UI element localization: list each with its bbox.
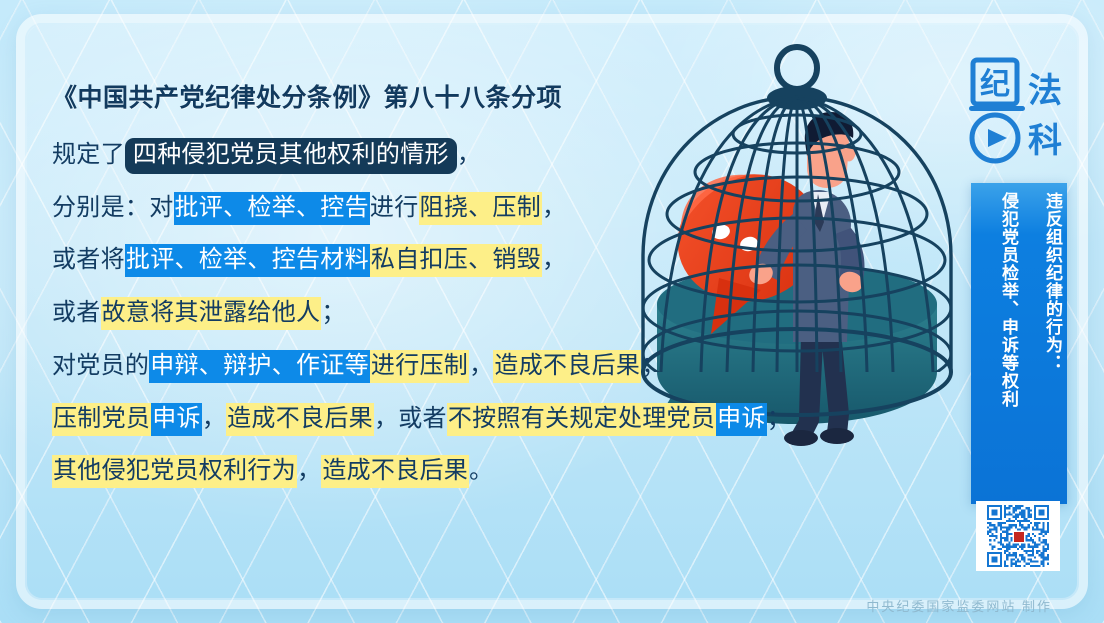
text-segment: 。 — [469, 458, 493, 484]
text-segment: 规定了 — [52, 142, 125, 168]
highlight-hl-blue: 申诉 — [151, 403, 202, 436]
text-segment: 进行 — [370, 195, 419, 221]
highlight-hl-yellow: 阻挠、压制 — [419, 192, 543, 225]
highlight-hl-yellow: 其他侵犯党员权利行为 — [52, 455, 297, 488]
poster-canvas: 《中国共产党纪律处分条例》第八十八条分项 规定了四种侵犯党员其他权利的情形，分别… — [0, 0, 1104, 623]
highlight-hl-blue: 申诉 — [716, 403, 767, 436]
text-segment: ； — [767, 406, 791, 432]
highlight-hl-yellow: 造成不良后果 — [321, 455, 469, 488]
highlight-hl-yellow: 压制党员 — [52, 403, 151, 436]
text-segment: 分别是：对 — [52, 195, 174, 221]
line-5: 对党员的申辩、辩护、作证等进行压制，造成不良后果； — [52, 351, 852, 382]
qr-code[interactable] — [976, 501, 1060, 571]
svg-text:科: 科 — [1028, 122, 1062, 160]
highlight-hl-yellow: 私自扣压、销毁 — [370, 244, 542, 277]
page-title: 《中国共产党纪律处分条例》第八十八条分项 — [52, 78, 852, 114]
text-segment: ； — [321, 300, 345, 326]
line-7: 其他侵犯党员权利行为，造成不良后果。 — [52, 456, 852, 487]
highlight-hl-yellow: 造成不良后果 — [493, 350, 641, 383]
highlight-hl-yellow: 造成不良后果 — [226, 403, 374, 436]
svg-text:法: 法 — [1028, 72, 1062, 110]
highlight-badge-dark: 四种侵犯党员其他权利的情形 — [125, 138, 457, 174]
line-2: 分别是：对批评、检举、控告进行阻挠、压制， — [52, 193, 852, 224]
text-segment: 或者 — [52, 300, 101, 326]
line-4: 或者故意将其泄露给他人； — [52, 298, 852, 329]
body-lines: 规定了四种侵犯党员其他权利的情形，分别是：对批评、检举、控告进行阻挠、压制，或者… — [52, 140, 852, 487]
brand-rail: 纪 法 科 — [967, 56, 1071, 164]
text-segment: 对党员的 — [52, 353, 149, 379]
text-segment: ； — [641, 353, 665, 379]
highlight-hl-yellow: 进行压制 — [370, 350, 469, 383]
highlight-hl-blue: 申辩、辩护、作证等 — [149, 350, 370, 383]
highlight-hl-blue: 批评、检举、控告 — [174, 192, 370, 225]
text-segment: 或者将 — [52, 247, 125, 273]
line-6: 压制党员申诉，造成不良后果，或者不按照有关规定处理党员申诉； — [52, 404, 852, 435]
text-segment: ， — [542, 195, 566, 221]
text-segment: ，或者 — [374, 406, 447, 432]
vertical-text-right: 违反组织纪律的行为： — [1020, 192, 1062, 372]
text-segment: ， — [297, 458, 321, 484]
vertical-text-left: 侵犯党员检举、申诉等权利 — [976, 192, 1018, 408]
credit-text: 中央纪委国家监委网站 制作 — [866, 596, 1052, 615]
text-segment: ， — [202, 406, 226, 432]
text-segment: ， — [457, 142, 481, 168]
svg-text:纪: 纪 — [980, 68, 1010, 101]
play-icon — [988, 129, 1007, 147]
highlight-hl-yellow: 故意将其泄露给他人 — [101, 297, 322, 330]
highlight-hl-yellow: 不按照有关规定处理党员 — [447, 403, 716, 436]
vertical-caption-panel: 违反组织纪律的行为： 侵犯党员检举、申诉等权利 — [971, 183, 1067, 504]
text-segment: ， — [542, 247, 566, 273]
line-1: 规定了四种侵犯党员其他权利的情形， — [52, 140, 852, 171]
jifa-baike-logo: 纪 法 科 — [969, 56, 1069, 164]
line-3: 或者将批评、检举、控告材料私自扣压、销毁， — [52, 245, 852, 276]
highlight-hl-blue: 批评、检举、控告材料 — [125, 244, 370, 277]
text-block: 《中国共产党纪律处分条例》第八十八条分项 规定了四种侵犯党员其他权利的情形，分别… — [52, 78, 852, 509]
text-segment: ， — [469, 353, 493, 379]
